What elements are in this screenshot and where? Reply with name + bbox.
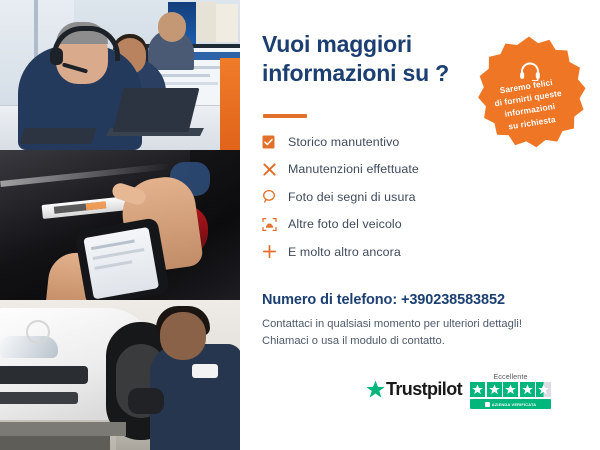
trustpilot-logo: Trustpilot [366,379,462,400]
title-underline-divider [263,114,307,118]
star-filled-4 [520,382,535,397]
call-centre-agent-photo [0,0,240,150]
feature-item-manutenzioni-effettuate: Manutenzioni effettuate [262,156,552,184]
feature-item-label: Storico manutentivo [288,135,399,149]
page-title: Vuoi maggiori informazioni su ? [262,30,492,89]
photo-lift-arm [0,422,126,436]
trustpilot-widget[interactable]: Trustpilot Eccellente AZIENDA VERIFICATA [366,372,551,409]
contact-subtext-line-1: Contattaci in qualsiasi momento per ulte… [262,318,522,330]
trustpilot-star-icon [366,380,385,399]
feature-item-altre-foto-veicolo: Altre foto del veicolo [262,211,552,239]
photo-strip [0,0,240,450]
scan-car-icon [262,217,288,232]
content-panel: Vuoi maggiori informazioni su ? Storico … [240,0,600,450]
photo-person-back-head [158,12,186,42]
contact-subtext-line-2: Chiamaci o usa il modulo di contatto. [262,335,445,347]
photo-laptop-screen [113,88,200,132]
magnifier-icon [262,189,288,204]
photo-grille [0,366,88,384]
trustpilot-stars [470,382,551,397]
photo-uniform-logo [192,364,218,378]
phone-number-label[interactable]: Numero di telefono: +390238583852 [262,292,562,308]
star-filled-2 [487,382,502,397]
trustpilot-verified-label: AZIENDA VERIFICATA [492,402,537,407]
photo-car-badge [26,320,50,344]
page-title-line-1: Vuoi maggiori [262,31,412,57]
feature-item-foto-segni-usura: Foto dei segni di usura [262,183,552,211]
photo-keyboard [19,128,96,144]
trustpilot-rating-label: Eccellente [470,372,551,381]
trustpilot-verified-badge: AZIENDA VERIFICATA [470,399,551,409]
star-filled-3 [503,382,518,397]
feature-item-label: Manutenzioni effettuate [288,162,419,176]
paint-thickness-gauge-photo [0,150,240,300]
photo-smartphone [74,217,170,300]
photo-lower-grille [0,392,78,404]
photo-mechanic-head [160,312,206,360]
feature-item-molto-altro: E molto altro ancora [262,238,552,266]
trustpilot-wordmark: Trustpilot [386,379,462,400]
plus-icon [262,244,288,259]
photo-orange-panel [220,58,240,150]
callout-badge: Saremo felici di fornirti queste informa… [468,34,590,154]
star-half-5 [536,382,551,397]
mechanic-wheel-inspection-photo [0,300,240,450]
feature-item-label: E molto altro ancora [288,245,401,259]
photo-agent-earcup [50,48,63,65]
photo-poster-2 [196,2,216,42]
checkbox-checked-icon [262,135,288,149]
feature-item-label: Altre foto del veicolo [288,217,402,231]
star-filled-1 [470,382,485,397]
trustpilot-rating: Eccellente AZIENDA VERIFICATA [470,372,551,409]
promo-banner: Vuoi maggiori informazioni su ? Storico … [0,0,600,450]
contact-subtext: Contattaci in qualsiasi momento per ulte… [262,316,562,350]
photo-lift-base [0,436,110,450]
verified-check-icon [485,402,490,407]
wrench-cross-icon [262,162,288,177]
photo-poster-3 [216,4,238,42]
photo-glove [128,388,164,414]
page-title-line-2: informazioni su ? [262,60,449,86]
feature-item-label: Foto dei segni di usura [288,190,416,204]
contact-block: Numero di telefono: +390238583852 Contat… [262,292,562,350]
